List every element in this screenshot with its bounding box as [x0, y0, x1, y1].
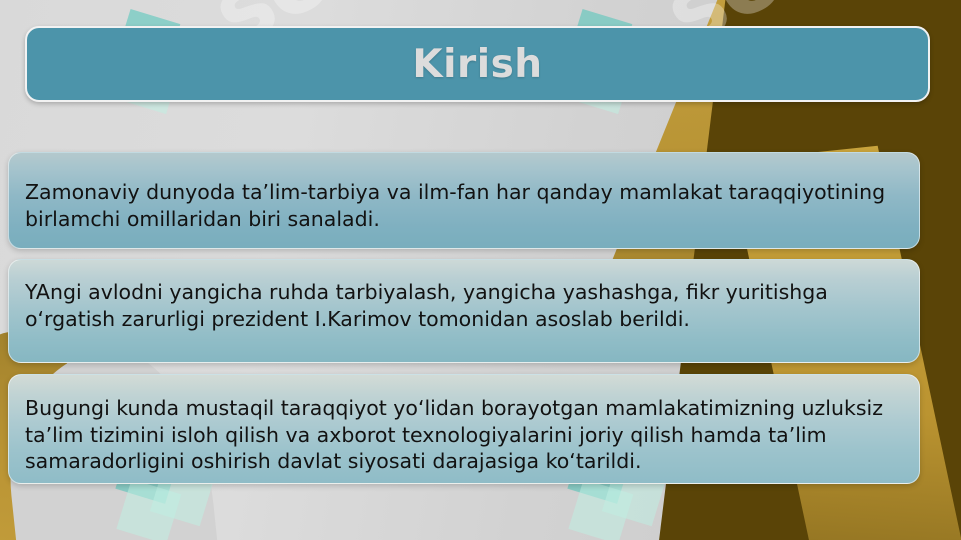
presentation-slide: so so so so Kirish Zamonaviy dunyoda ta’… — [0, 0, 961, 540]
page-title: Kirish — [412, 42, 542, 87]
slide-title-bar: Kirish — [25, 26, 930, 102]
bullet-text: Zamonaviy dunyoda ta’lim-tarbiya va ilm-… — [25, 169, 905, 232]
content-box: Zamonaviy dunyoda ta’lim-tarbiya va ilm-… — [8, 152, 920, 249]
bullet-text: Bugungi kunda mustaqil taraqqiyot yo‘lid… — [25, 391, 905, 475]
bullet-text: YAngi avlodni yangicha ruhda tarbiyalash… — [25, 276, 905, 332]
content-box: Bugungi kunda mustaqil taraqqiyot yo‘lid… — [8, 374, 920, 484]
content-box: YAngi avlodni yangicha ruhda tarbiyalash… — [8, 259, 920, 363]
